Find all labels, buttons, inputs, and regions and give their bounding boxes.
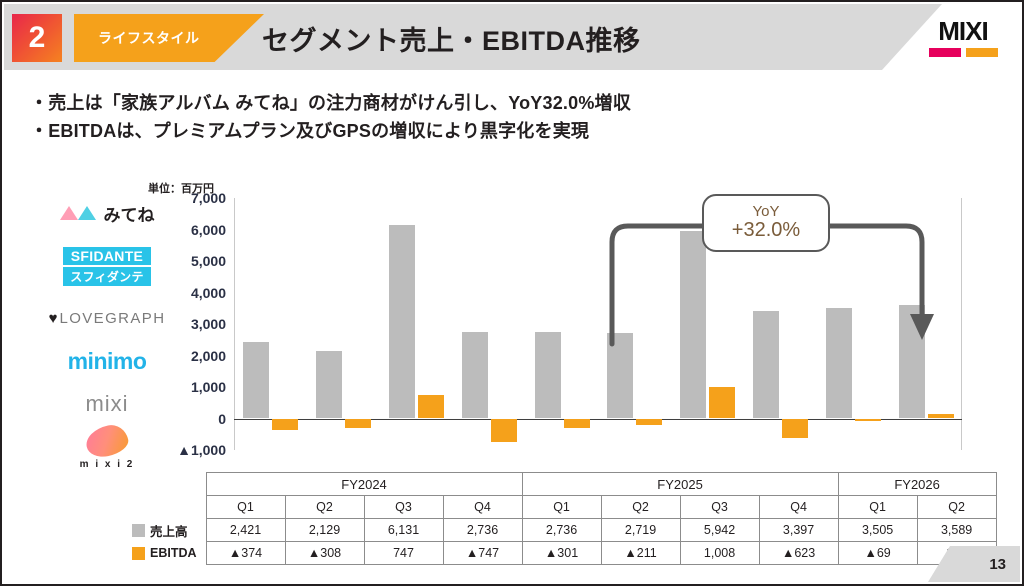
table-corner-cell-2: [130, 496, 206, 519]
y-axis-tick: ▲1,000: [177, 442, 226, 458]
data-table-wrapper: FY2024FY2025FY2026 Q1Q2Q3Q4Q1Q2Q3Q4Q1Q2 …: [130, 472, 996, 565]
bar-revenue: [753, 311, 779, 418]
bar-ebitda: [782, 419, 808, 439]
section-number-badge: 2: [12, 14, 62, 62]
bar-chart: 7,0006,0005,0004,0003,0002,0001,0000▲1,0…: [172, 198, 962, 466]
logo-sfidante-label-jp: スフィダンテ: [63, 267, 151, 286]
table-row-revenue: 売上高2,4212,1296,1312,7362,7362,7195,9423,…: [130, 519, 996, 542]
chart-zero-axis: [234, 419, 962, 421]
table-row-revenue-cell: 3,397: [759, 519, 838, 542]
mixi2-blob-icon: [83, 422, 130, 460]
bar-ebitda: [491, 419, 517, 443]
logo-mixi2: m i x i 2: [42, 426, 172, 470]
table-header-quarter: Q1: [522, 496, 601, 519]
logo-sfidante-label-en: SFIDANTE: [63, 247, 151, 265]
table-row-revenue-cell: 5,942: [680, 519, 759, 542]
y-axis-tick: 0: [218, 411, 226, 427]
mixi-logo: MIXI: [920, 18, 1006, 62]
logo-lovegraph: ♥ LOVEGRAPH: [42, 306, 172, 330]
bullet-item-1: ・売上は「家族アルバム みてね」の注力商材がけん引し、YoY32.0%増収: [30, 90, 930, 118]
logo-mixi: mixi: [42, 390, 172, 418]
bar-ebitda: [418, 395, 444, 419]
chart-plot-area: [234, 198, 962, 450]
table-row-revenue-label-cell: 売上高: [130, 519, 206, 542]
page-title: セグメント売上・EBITDA推移: [262, 14, 641, 62]
table-header-fiscal-year: FY2024: [206, 473, 522, 496]
y-axis-tick: 2,000: [191, 348, 226, 364]
table-header-quarter: Q1: [206, 496, 285, 519]
table-header-quarter: Q2: [285, 496, 364, 519]
bar-revenue: [680, 231, 706, 418]
table-row-ebitda-cell: ▲69: [838, 542, 917, 565]
table-row-ebitda-color-swatch: [132, 547, 145, 560]
mixi-bar-orange: [966, 48, 998, 57]
mitene-chevron-cyan-icon: [78, 206, 96, 220]
table-row-revenue-cell: 3,589: [917, 519, 996, 542]
bar-revenue: [826, 308, 852, 418]
table-row-ebitda-cell: ▲211: [601, 542, 680, 565]
logo-minimo: minimo: [42, 346, 172, 376]
bar-revenue: [316, 351, 342, 418]
table-header-quarter: Q4: [443, 496, 522, 519]
logo-mitene-label: みてね: [104, 201, 155, 226]
chart-y-axis: 7,0006,0005,0004,0003,0002,0001,0000▲1,0…: [172, 198, 230, 450]
table-header-fiscal-year: FY2026: [838, 473, 996, 496]
table-row-quarters: Q1Q2Q3Q4Q1Q2Q3Q4Q1Q2: [130, 496, 996, 519]
y-axis-tick: 5,000: [191, 253, 226, 269]
table-row-revenue-color-swatch: [132, 524, 145, 537]
table-header-quarter: Q1: [838, 496, 917, 519]
bullet-list: ・売上は「家族アルバム みてね」の注力商材がけん引し、YoY32.0%増収 ・E…: [30, 90, 930, 146]
y-axis-tick: 4,000: [191, 285, 226, 301]
brand-logo-column: みてね SFIDANTE スフィダンテ ♥ LOVEGRAPH minimo m…: [42, 198, 172, 468]
bar-ebitda: [345, 419, 371, 429]
table-row-ebitda-legend: EBITDA: [130, 546, 206, 560]
table-row-ebitda: EBITDA▲374▲308747▲747▲301▲2111,008▲623▲6…: [130, 542, 996, 565]
table-row-ebitda-cell: ▲308: [285, 542, 364, 565]
table-row-revenue-cell: 3,505: [838, 519, 917, 542]
page-number: 13: [989, 556, 1006, 573]
slide-header: 2 ライフスタイル セグメント売上・EBITDA推移 MIXI: [4, 4, 1022, 70]
bullet-item-2: ・EBITDAは、プレミアムプラン及びGPSの増収により黒字化を実現: [30, 118, 930, 146]
y-axis-tick: 3,000: [191, 316, 226, 332]
table-row-revenue-cell: 2,736: [443, 519, 522, 542]
bar-revenue: [462, 332, 488, 418]
y-axis-tick: 1,000: [191, 379, 226, 395]
table-row-revenue-label: 売上高: [150, 521, 188, 540]
bar-ebitda: [564, 419, 590, 428]
mixi-bar-pink: [929, 48, 961, 57]
table-row-ebitda-cell: 1,008: [680, 542, 759, 565]
table-header-quarter: Q3: [680, 496, 759, 519]
table-row-revenue-cell: 2,421: [206, 519, 285, 542]
slide: 2 ライフスタイル セグメント売上・EBITDA推移 MIXI ・売上は「家族ア…: [0, 0, 1024, 586]
table-row-revenue-legend: 売上高: [130, 521, 206, 540]
plot-right-border: [961, 198, 962, 450]
table-row-ebitda-cell: ▲623: [759, 542, 838, 565]
heart-icon: ♥: [49, 310, 58, 327]
mixi-wordmark: MIXI: [920, 18, 1006, 44]
bar-ebitda: [272, 419, 298, 431]
table-row-revenue-cell: 2,719: [601, 519, 680, 542]
bar-ebitda: [855, 419, 881, 421]
table-row-ebitda-cell: ▲747: [443, 542, 522, 565]
logo-sfidante: SFIDANTE スフィダンテ: [42, 240, 172, 292]
table-header-quarter: Q2: [917, 496, 996, 519]
table-row-ebitda-label-cell: EBITDA: [130, 542, 206, 565]
logo-lovegraph-label: LOVEGRAPH: [59, 310, 165, 327]
bar-ebitda: [928, 414, 954, 418]
bar-revenue: [899, 305, 925, 418]
y-axis-tick: 7,000: [191, 190, 226, 206]
section-number: 2: [29, 23, 46, 53]
table-row-ebitda-label: EBITDA: [150, 546, 197, 560]
bar-revenue: [243, 342, 269, 418]
table-row-ebitda-cell: 747: [364, 542, 443, 565]
table-header-fiscal-year: FY2025: [522, 473, 838, 496]
bar-ebitda: [709, 387, 735, 419]
data-table: FY2024FY2025FY2026 Q1Q2Q3Q4Q1Q2Q3Q4Q1Q2 …: [130, 472, 997, 565]
bar-revenue: [535, 332, 561, 418]
table-row-ebitda-cell: ▲301: [522, 542, 601, 565]
bar-revenue: [389, 225, 415, 418]
bar-ebitda: [636, 419, 662, 426]
table-row-ebitda-cell: ▲374: [206, 542, 285, 565]
logo-minimo-label: minimo: [68, 348, 147, 375]
table-header-quarter: Q4: [759, 496, 838, 519]
mixi-logo-bars: [920, 48, 1006, 57]
category-label: ライフスタイル: [98, 28, 200, 48]
y-axis-tick: 6,000: [191, 222, 226, 238]
logo-mixi-label: mixi: [85, 391, 128, 417]
mitene-chevron-pink-icon: [60, 206, 78, 220]
plot-left-border: [234, 198, 235, 450]
table-row-revenue-cell: 2,736: [522, 519, 601, 542]
table-row-fiscal-years: FY2024FY2025FY2026: [130, 473, 996, 496]
bar-revenue: [607, 333, 633, 419]
table-corner-cell: [130, 473, 206, 496]
table-header-quarter: Q3: [364, 496, 443, 519]
table-row-revenue-cell: 2,129: [285, 519, 364, 542]
logo-mixi2-label: m i x i 2: [80, 459, 135, 470]
logo-mitene: みてね: [42, 200, 172, 226]
table-header-quarter: Q2: [601, 496, 680, 519]
table-row-revenue-cell: 6,131: [364, 519, 443, 542]
